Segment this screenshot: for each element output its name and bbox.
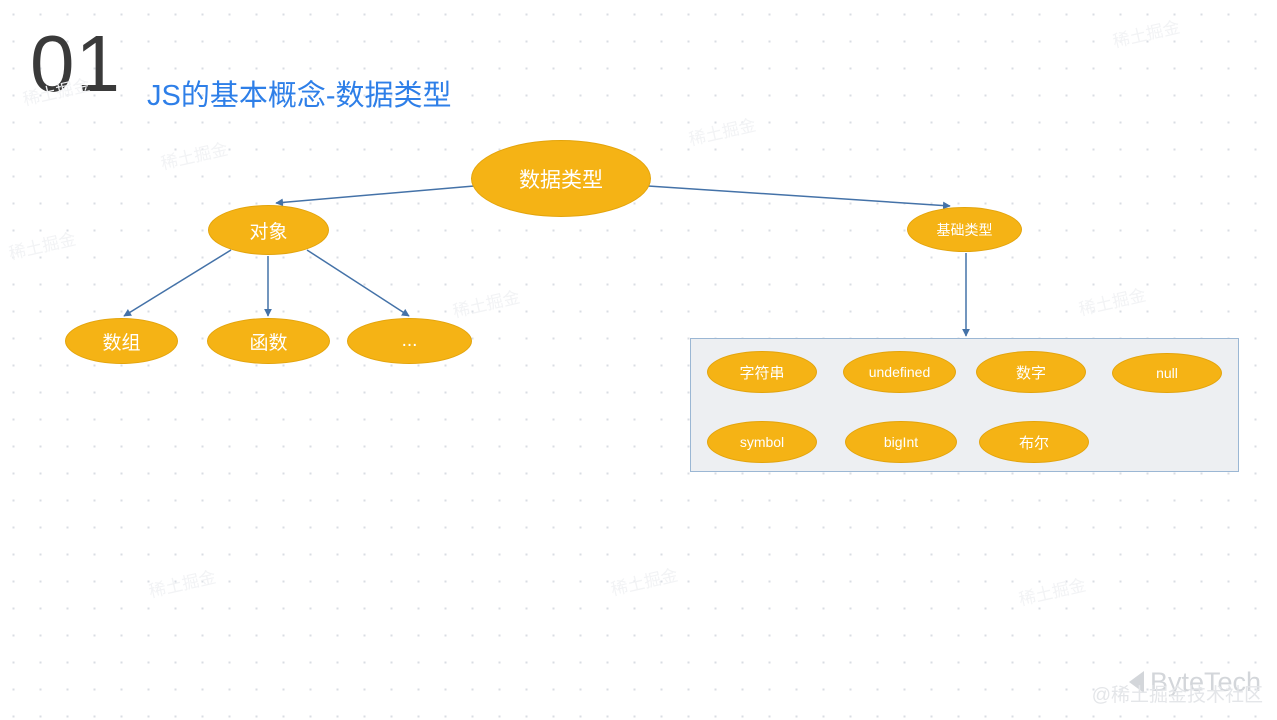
edge-object-to-array [124, 250, 231, 316]
data-type-diagram: 数据类型 对象 基础类型 数组 函数 ... 字符串 undefined [0, 0, 1277, 720]
node-data-type[interactable]: 数据类型 [471, 140, 651, 217]
node-undefined[interactable]: undefined [843, 351, 956, 393]
node-label: 字符串 [739, 362, 784, 383]
community-watermark: @稀土掘金技术社区 [1092, 680, 1263, 707]
node-function[interactable]: 函数 [207, 318, 330, 364]
node-symbol[interactable]: symbol [707, 421, 817, 463]
node-label: 数据类型 [519, 164, 603, 194]
node-boolean[interactable]: 布尔 [979, 421, 1089, 463]
node-object[interactable]: 对象 [208, 205, 329, 255]
node-label: 数字 [1016, 362, 1046, 383]
node-label: 函数 [249, 328, 287, 355]
node-label: bigInt [884, 434, 918, 450]
node-more[interactable]: ... [347, 318, 472, 364]
node-label: 基础类型 [937, 220, 993, 240]
node-string[interactable]: 字符串 [707, 351, 817, 393]
edge-object-to-more [307, 250, 409, 316]
node-primitive-type[interactable]: 基础类型 [907, 207, 1022, 252]
slide-canvas: 稀土掘金 稀土掘金 稀土掘金 稀土掘金 稀土掘金 稀土掘金 稀土掘金 稀土掘金 … [0, 0, 1277, 720]
node-label: 对象 [249, 217, 287, 244]
node-label: 布尔 [1019, 432, 1049, 453]
node-label: ... [402, 330, 418, 352]
node-label: null [1156, 365, 1178, 381]
node-label: 数组 [102, 328, 140, 355]
node-null[interactable]: null [1112, 353, 1222, 393]
node-number[interactable]: 数字 [976, 351, 1086, 393]
node-array[interactable]: 数组 [65, 318, 178, 364]
edge-root-to-object [276, 186, 474, 203]
edge-root-to-primitive [648, 186, 950, 206]
node-bigint[interactable]: bigInt [845, 421, 957, 463]
node-label: undefined [869, 364, 931, 380]
node-label: symbol [740, 434, 784, 450]
